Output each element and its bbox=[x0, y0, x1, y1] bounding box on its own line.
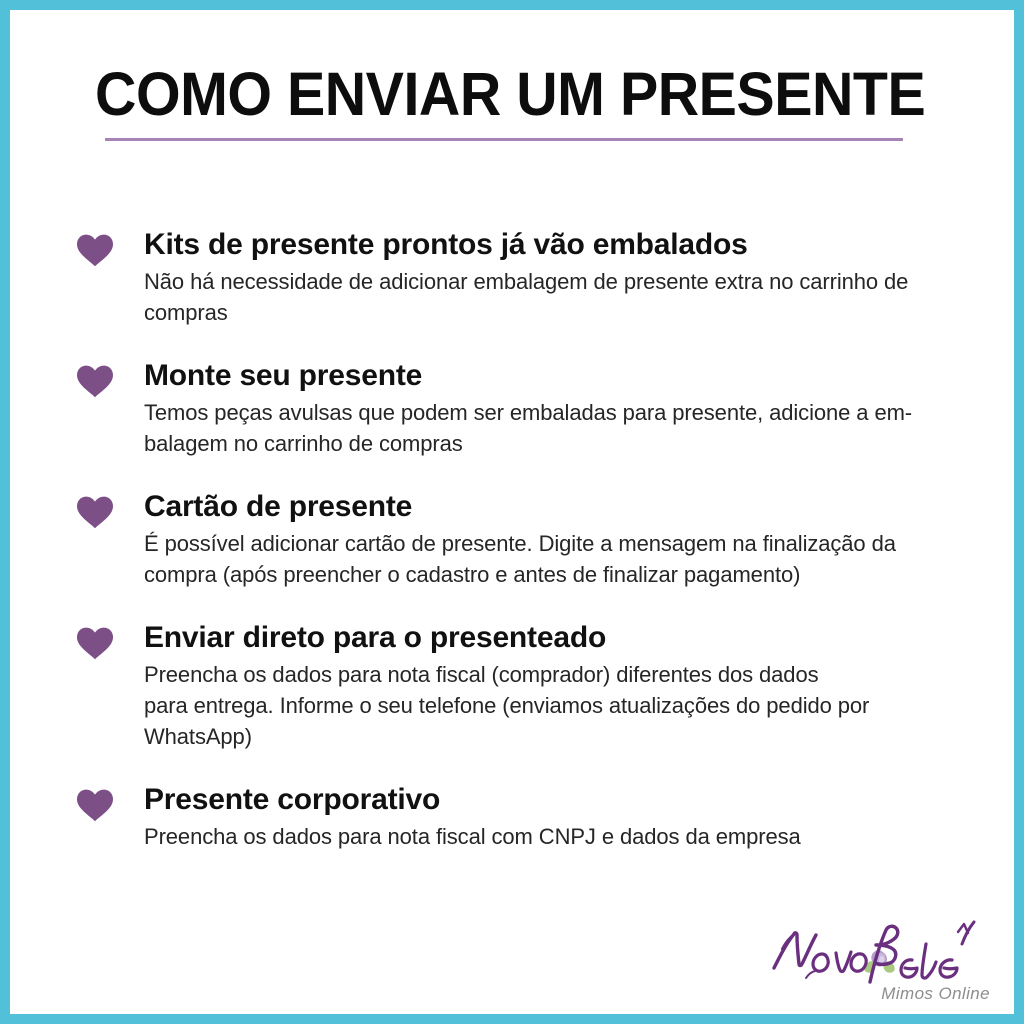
title-underline-rule bbox=[105, 138, 903, 141]
description-line: Preencha os dados para nota fiscal (comp… bbox=[144, 659, 996, 690]
description-line: balagem no carrinho de compras bbox=[144, 428, 996, 459]
list-item-description: Preencha os dados para nota fiscal (comp… bbox=[144, 658, 996, 752]
list-item-body: Enviar direto para o presenteado Preench… bbox=[144, 618, 996, 752]
slide-sheet: COMO ENVIAR UM PRESENTE Kits de presente… bbox=[10, 10, 1014, 1014]
list-item: Enviar direto para o presenteado Preench… bbox=[76, 618, 996, 752]
list-item-description: É possível adicionar cartão de presente.… bbox=[144, 527, 996, 590]
list-item-description: Temos peças avulsas que podem ser embala… bbox=[144, 396, 996, 459]
logo-tagline: Mimos Online bbox=[881, 984, 990, 1004]
heart-icon bbox=[77, 365, 113, 398]
list-item-description: Não há necessidade de adicionar embalage… bbox=[144, 265, 996, 328]
description-line: compra (após preencher o cadastro e ante… bbox=[144, 559, 996, 590]
list-item-body: Cartão de presente É possível adicionar … bbox=[144, 487, 996, 590]
slide-canvas: COMO ENVIAR UM PRESENTE Kits de presente… bbox=[0, 0, 1024, 1024]
list-item-title: Kits de presente prontos já vão embalado… bbox=[144, 225, 996, 265]
title-block: COMO ENVIAR UM PRESENTE bbox=[95, 58, 935, 130]
list-item-title: Monte seu presente bbox=[144, 356, 996, 396]
list-item-body: Monte seu presente Temos peças avulsas q… bbox=[144, 356, 996, 459]
description-line: É possível adicionar cartão de presente.… bbox=[144, 528, 996, 559]
page-title: COMO ENVIAR UM PRESENTE bbox=[95, 58, 885, 130]
list-item: Monte seu presente Temos peças avulsas q… bbox=[76, 356, 996, 459]
list-item: Kits de presente prontos já vão embalado… bbox=[76, 225, 996, 328]
list-item-title: Cartão de presente bbox=[144, 487, 996, 527]
logo-wordmark-novo-bebe bbox=[766, 910, 996, 984]
heart-icon bbox=[77, 234, 113, 267]
description-line: Não há necessidade de adicionar embalage… bbox=[144, 266, 996, 297]
list-item-body: Presente corporativo Preencha os dados p… bbox=[144, 780, 996, 852]
description-line: WhatsApp) bbox=[144, 721, 996, 752]
brand-logo: Mimos Online bbox=[766, 910, 996, 1006]
list-item-title: Enviar direto para o presenteado bbox=[144, 618, 996, 658]
tips-list: Kits de presente prontos já vão embalado… bbox=[76, 225, 996, 852]
list-item-title: Presente corporativo bbox=[144, 780, 996, 820]
list-item: Cartão de presente É possível adicionar … bbox=[76, 487, 996, 590]
list-item-description: Preencha os dados para nota fiscal com C… bbox=[144, 820, 996, 852]
list-item-body: Kits de presente prontos já vão embalado… bbox=[144, 225, 996, 328]
list-item: Presente corporativo Preencha os dados p… bbox=[76, 780, 996, 852]
description-line: compras bbox=[144, 297, 996, 328]
description-line: Temos peças avulsas que podem ser embala… bbox=[144, 397, 996, 428]
description-line: para entrega. Informe o seu telefone (en… bbox=[144, 690, 996, 721]
description-line: Preencha os dados para nota fiscal com C… bbox=[144, 821, 996, 852]
heart-icon bbox=[77, 789, 113, 822]
heart-icon bbox=[77, 627, 113, 660]
heart-icon bbox=[77, 496, 113, 529]
